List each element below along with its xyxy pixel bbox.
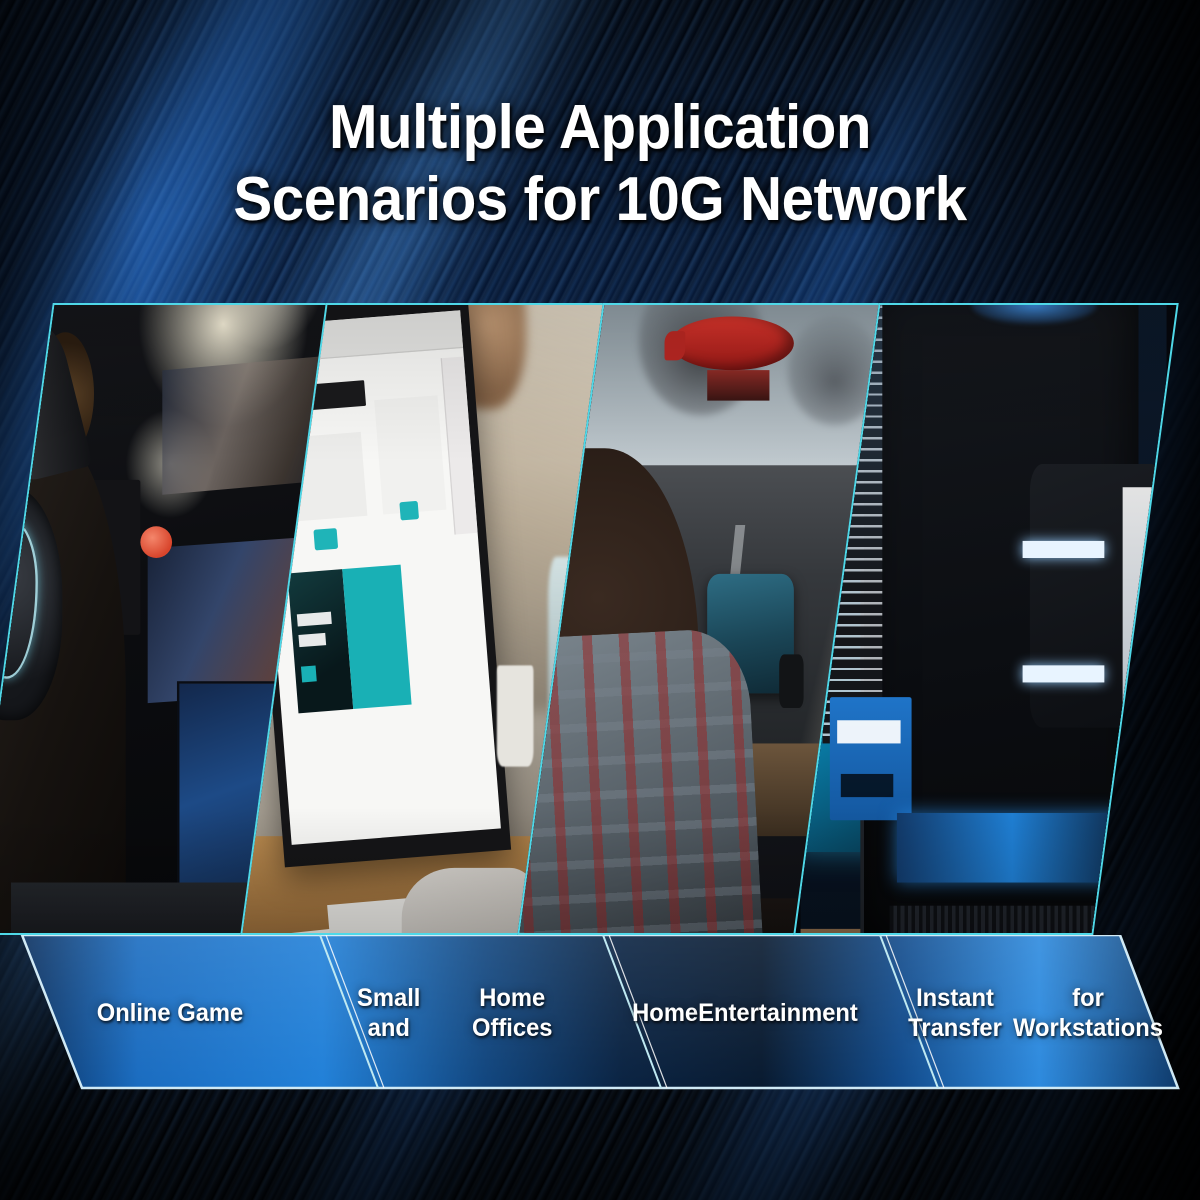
scenario-label-band: Online Game Small and Home Offices Home … (0, 935, 1200, 1095)
ryzen-threadripper-badge (1123, 487, 1164, 704)
page-title: Multiple Application Scenarios for 10G N… (0, 92, 1200, 236)
game-car-tire-right (779, 654, 804, 709)
screen-ui-button-secondary (399, 501, 419, 520)
screen-ui-column-right (374, 395, 445, 514)
title-line-2: Scenarios for 10G Network (36, 164, 1164, 236)
power-supply-shroud (890, 906, 1135, 935)
person-arm (402, 867, 534, 935)
lian-li-badge (830, 697, 912, 821)
lian-li-text (838, 720, 901, 743)
graphics-card (897, 813, 1127, 883)
rgb-light-strip-bottom (1023, 666, 1105, 683)
scenario-label-small-home-offices[interactable]: Small and Home Offices (337, 935, 584, 1090)
scenario-label-instant-transfer-line-2: for Workstations (1013, 983, 1163, 1043)
screen-ui-sidebar (441, 357, 477, 535)
scenario-label-home-entertainment-line-1: Home (632, 998, 698, 1028)
game-gantry (707, 371, 769, 401)
infographic-root: Multiple Application Scenarios for 10G N… (0, 0, 1200, 1200)
scenario-label-online-game-text: Online Game (97, 998, 244, 1028)
scenario-labels: Online Game Small and Home Offices Home … (0, 935, 1200, 1090)
scenario-label-small-home-offices-line-2: Home Offices (441, 983, 584, 1043)
scenario-label-home-entertainment[interactable]: Home Entertainment (622, 935, 869, 1090)
scenario-label-instant-transfer-for-workstations[interactable]: Instant Transfer for Workstations (897, 935, 1163, 1090)
venue-logo-icon (141, 526, 173, 558)
title-line-1: Multiple Application (36, 92, 1164, 164)
scenario-label-small-home-offices-line-1: Small and (337, 983, 441, 1043)
game-blimp-fin (664, 331, 686, 361)
screen-ui-button-primary (314, 528, 339, 551)
screen-ui-card-teal (342, 565, 411, 709)
scenario-label-instant-transfer-line-1: Instant Transfer (897, 983, 1013, 1043)
coffee-cup (497, 666, 534, 767)
scenario-label-home-entertainment-line-2: Entertainment (698, 998, 858, 1028)
scenario-label-online-game[interactable]: Online Game (47, 935, 294, 1090)
lian-li-subtext (841, 774, 893, 797)
viewer-plaid-shirt (517, 627, 767, 935)
rgb-light-strip-top (1023, 541, 1105, 558)
screen-ui-card-chip (301, 665, 317, 682)
scenario-image-row (0, 303, 1200, 935)
